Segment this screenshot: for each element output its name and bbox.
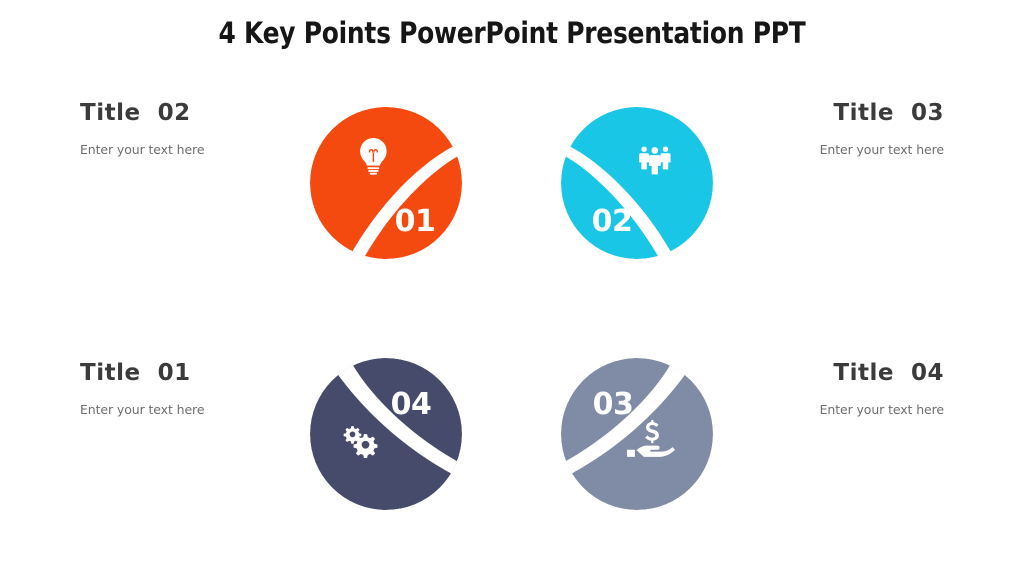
circle-fill-04 [310, 358, 462, 510]
page-title: 4 Key Points PowerPoint Presentation PPT [72, 16, 953, 50]
key-point-circle-02[interactable]: 02 [561, 107, 713, 259]
slide-canvas: 4 Key Points PowerPoint Presentation PPT… [0, 0, 1024, 576]
node-number-04: 04 [391, 387, 432, 422]
circle-fill-02 [561, 107, 713, 259]
node-number-01: 01 [395, 204, 436, 239]
key-point-circle-03[interactable]: 03 [561, 358, 713, 510]
circle-fill-01 [310, 107, 462, 259]
node-number-03: 03 [593, 387, 634, 422]
node-number-02: 02 [592, 204, 633, 239]
circle-fill-03 [561, 358, 713, 510]
key-point-circle-04[interactable]: 04 [310, 358, 462, 510]
key-point-circle-01[interactable]: 01 [310, 107, 462, 259]
